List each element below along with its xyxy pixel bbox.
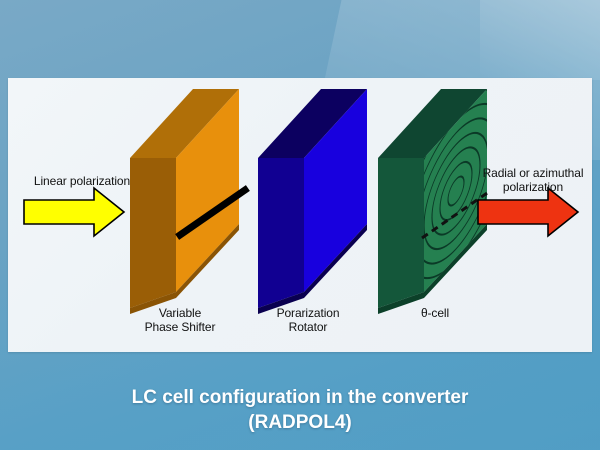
component-label-variable-phase-shifter: Variable Phase Shifter — [120, 306, 240, 334]
output-arrow[interactable] — [478, 188, 578, 236]
yellow-arrow-shape — [24, 188, 124, 236]
block-variable-phase-shifter[interactable] — [130, 89, 245, 314]
input-polarization-label: Linear polarization — [18, 174, 146, 188]
slide-title: LC cell configuration in the converter (… — [0, 385, 600, 435]
content-panel: Linear polarization Radial or azimuthal … — [8, 78, 592, 352]
component-label-theta-cell: θ-cell — [380, 306, 490, 320]
slide-canvas: Linear polarization Radial or azimuthal … — [0, 0, 600, 450]
background-corner-highlight — [480, 0, 600, 80]
block-polarization-rotator[interactable] — [258, 89, 367, 314]
output-polarization-label: Radial or azimuthal polarization — [470, 166, 596, 194]
blue-block-side-face — [258, 158, 304, 308]
component-label-polarization-rotator: Porarization Rotator — [248, 306, 368, 334]
green-block-side-face — [378, 158, 424, 308]
red-arrow-shape — [478, 188, 578, 236]
input-arrow[interactable] — [24, 188, 124, 236]
